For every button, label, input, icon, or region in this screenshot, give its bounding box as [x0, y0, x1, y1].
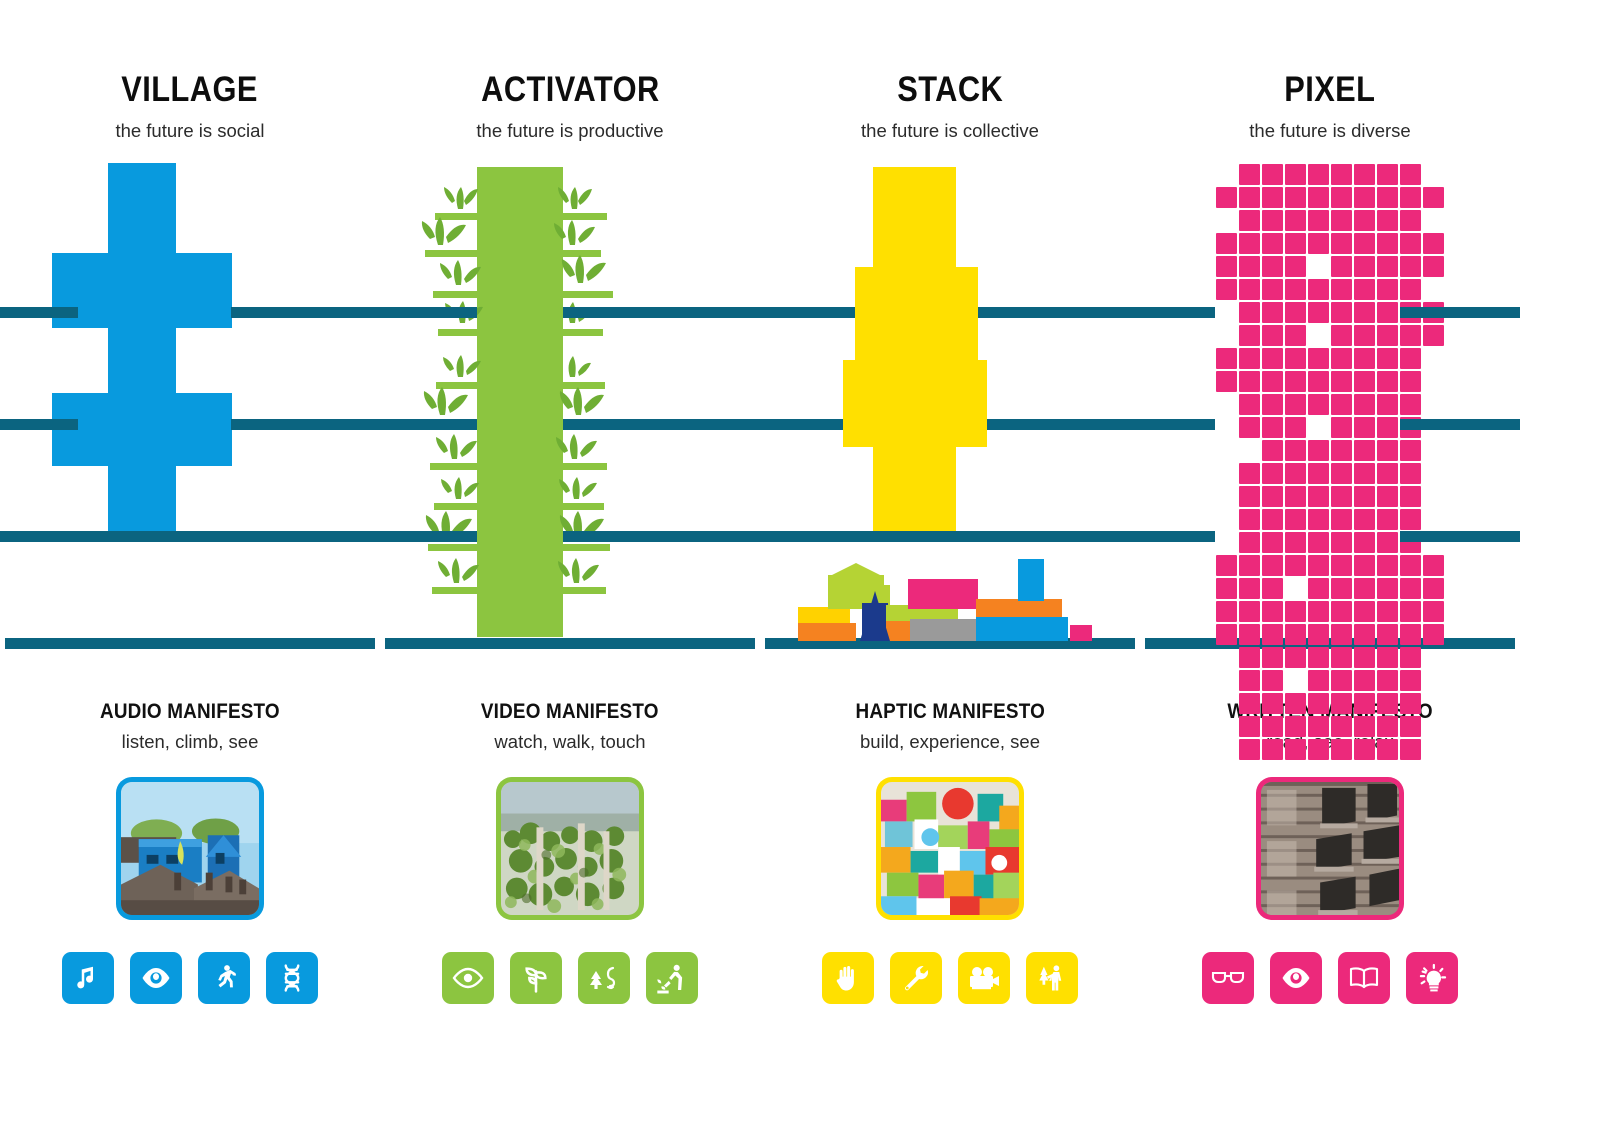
pixel-cell [1285, 647, 1306, 668]
icon-tile-music-note[interactable] [62, 952, 114, 1004]
pixel-cell [1354, 624, 1375, 645]
pixel-cell [1331, 417, 1352, 438]
pixel-cell [1354, 371, 1375, 392]
tower-village [0, 163, 380, 653]
thumbnail-image-village [121, 782, 259, 915]
pixel-cell [1239, 486, 1260, 507]
pixel-cell [1285, 716, 1306, 737]
icon-tile-dna[interactable] [266, 952, 318, 1004]
pixel-cell [1262, 210, 1283, 231]
floor-line-2-left [760, 419, 843, 430]
column-title-village: VILLAGE [122, 72, 259, 107]
icon-tile-wrench[interactable] [890, 952, 942, 1004]
pixel-cell [1216, 601, 1237, 622]
pixel-cell [1308, 486, 1329, 507]
pixel-cell [1308, 394, 1329, 415]
pixel-cell [1354, 693, 1375, 714]
pixel-gap [1216, 670, 1237, 691]
pixel-cell [1285, 348, 1306, 369]
floor-line-2-right [1400, 419, 1520, 430]
pixel-cell [1331, 164, 1352, 185]
pixel-cell [1377, 233, 1398, 254]
pixel-cell [1262, 302, 1283, 323]
pixel-cell [1331, 394, 1352, 415]
column-village: VILLAGE the future is social AUDIO MANIF… [0, 72, 380, 1131]
pixel-cell [1285, 256, 1306, 277]
pixel-cell [1239, 302, 1260, 323]
floor-line-3-right [563, 531, 760, 542]
manifesto-title-activator: VIDEO MANIFESTO [481, 701, 659, 722]
toy-block [976, 599, 1062, 619]
thumbnail-frame-village[interactable] [116, 777, 264, 920]
pixel-cell [1377, 348, 1398, 369]
pixel-cell [1423, 256, 1444, 277]
pixel-cell [1354, 348, 1375, 369]
pixel-cell [1423, 601, 1444, 622]
floor-line-2-right [563, 419, 760, 430]
pixel-cell [1308, 509, 1329, 530]
pixel-cell [1331, 463, 1352, 484]
pixel-gap [1308, 417, 1329, 438]
balcony-plants [420, 171, 620, 631]
pixel-cell [1400, 601, 1421, 622]
pixel-cell [1262, 486, 1283, 507]
pixel-cell [1239, 601, 1260, 622]
pixel-cell [1285, 486, 1306, 507]
pixel-cell [1377, 578, 1398, 599]
column-tagline-stack: the future is collective [861, 122, 1039, 141]
icon-row-village [62, 952, 318, 1004]
tower-pixel [1140, 163, 1520, 653]
pixel-cell [1308, 164, 1329, 185]
manifesto-village: AUDIO MANIFESTO listen, climb, see [90, 701, 290, 752]
toy-block [908, 579, 978, 609]
pixel-cell [1377, 693, 1398, 714]
pixel-cell [1377, 532, 1398, 553]
column-title-stack: STACK [897, 72, 1003, 107]
pixel-cell [1377, 555, 1398, 576]
pixel-cell [1377, 739, 1398, 760]
pixel-cell [1308, 739, 1329, 760]
pixel-cell [1239, 739, 1260, 760]
pixel-gap [1285, 670, 1306, 691]
pixel-gap [1423, 440, 1444, 461]
pixel-cell [1239, 371, 1260, 392]
pixel-cell [1400, 279, 1421, 300]
pixel-cell [1262, 693, 1283, 714]
pixel-cell [1354, 394, 1375, 415]
pixel-cell [1331, 486, 1352, 507]
pixel-cell [1331, 509, 1352, 530]
pixel-cell [1377, 164, 1398, 185]
pixel-cell [1354, 509, 1375, 530]
pixel-cell [1400, 164, 1421, 185]
stack-box-4 [873, 447, 956, 532]
icon-tile-sprout[interactable] [510, 952, 562, 1004]
glasses-icon [1211, 965, 1245, 991]
village-block-wide-1 [52, 253, 232, 328]
pixel-cell [1308, 302, 1329, 323]
pixel-cell [1354, 532, 1375, 553]
pixel-cell [1400, 739, 1421, 760]
pixel-gap [1423, 279, 1444, 300]
manifesto-sub-activator: watch, walk, touch [471, 733, 668, 752]
icon-tile-eye[interactable] [130, 952, 182, 1004]
column-tagline-village: the future is social [115, 122, 264, 141]
pixel-cell [1239, 348, 1260, 369]
pixel-cell [1354, 578, 1375, 599]
thumbnail-frame-stack[interactable] [876, 777, 1024, 920]
floor-line-2-left [0, 419, 78, 430]
pixel-cell [1354, 486, 1375, 507]
pixel-cell [1354, 716, 1375, 737]
pixel-cell [1308, 210, 1329, 231]
pixel-cell [1262, 601, 1283, 622]
eye-outline-icon [451, 961, 485, 995]
pixel-gap [1239, 440, 1260, 461]
pixel-cell [1239, 555, 1260, 576]
pixel-gap [1423, 716, 1444, 737]
icon-tile-running-person[interactable] [198, 952, 250, 1004]
pixel-cell [1354, 601, 1375, 622]
pixel-cell [1216, 348, 1237, 369]
pixel-cell [1262, 187, 1283, 208]
thumbnail-image-pixel [1261, 782, 1399, 915]
pixel-cell [1331, 555, 1352, 576]
infographic-board: VILLAGE the future is social AUDIO MANIF… [0, 0, 1600, 1131]
pixel-gap [1423, 647, 1444, 668]
open-book-icon [1348, 964, 1380, 992]
pixel-gap [1423, 739, 1444, 760]
pixel-cell [1400, 325, 1421, 346]
pixel-cell [1285, 279, 1306, 300]
pixel-cell [1262, 325, 1283, 346]
floor-line-1-right [231, 307, 380, 318]
lightbulb-icon [1416, 962, 1448, 994]
pixel-cell [1262, 394, 1283, 415]
pixel-cell [1354, 279, 1375, 300]
village-block-top [108, 163, 176, 253]
pixel-cell [1308, 693, 1329, 714]
manifesto-activator: VIDEO MANIFESTO watch, walk, touch [471, 701, 668, 752]
ground-line [5, 638, 375, 649]
pixel-cell [1400, 624, 1421, 645]
toy-block [976, 617, 1068, 641]
pixel-cell [1423, 233, 1444, 254]
pixel-cell [1400, 371, 1421, 392]
pixel-gap [1216, 509, 1237, 530]
film-camera-icon [968, 964, 1000, 992]
thumbnail-image-stack [881, 782, 1019, 915]
pixel-gap [1216, 739, 1237, 760]
icon-row-pixel [1202, 952, 1458, 1004]
village-block-base [108, 466, 176, 536]
floor-line-3 [760, 531, 1140, 542]
pixel-cell [1239, 164, 1260, 185]
pixel-cell [1285, 693, 1306, 714]
pixel-cell [1354, 670, 1375, 691]
pixel-cell [1354, 210, 1375, 231]
pixel-cell [1308, 440, 1329, 461]
pixel-cell [1262, 417, 1283, 438]
sprout-icon [520, 962, 552, 994]
column-pixel: PIXEL the future is diverse WRITTEN MANI… [1140, 72, 1520, 1131]
pixel-cell [1377, 187, 1398, 208]
icon-tile-lightbulb[interactable] [1406, 952, 1458, 1004]
pixel-cell [1239, 693, 1260, 714]
pixel-cell [1423, 624, 1444, 645]
stack-box-3 [843, 360, 987, 447]
pixel-cell [1262, 164, 1283, 185]
pixel-cell [1377, 601, 1398, 622]
manifesto-title-village: AUDIO MANIFESTO [100, 701, 280, 722]
pixel-cell [1216, 256, 1237, 277]
pixel-cell [1354, 164, 1375, 185]
floor-line-2-left [1140, 419, 1215, 430]
pixel-cell [1377, 371, 1398, 392]
icon-tile-eye-outline[interactable] [442, 952, 494, 1004]
floor-line-1-right [1400, 307, 1520, 318]
pixel-cell [1308, 647, 1329, 668]
pixel-cell [1354, 187, 1375, 208]
pixel-cell [1262, 440, 1283, 461]
pixel-cell [1331, 532, 1352, 553]
pixel-gap [1216, 532, 1237, 553]
pixel-cell [1239, 578, 1260, 599]
pixel-cell [1377, 486, 1398, 507]
pixel-cell [1262, 716, 1283, 737]
person-planting-icon [656, 962, 688, 994]
pixel-cell [1400, 647, 1421, 668]
toy-block-roof [828, 563, 884, 577]
manifesto-sub-stack: build, experience, see [845, 733, 1055, 752]
pixel-cell [1400, 256, 1421, 277]
pixel-cell [1262, 624, 1283, 645]
pixel-cell [1308, 670, 1329, 691]
pixel-cell [1285, 440, 1306, 461]
pixel-gap [1423, 509, 1444, 530]
pixel-cell [1262, 279, 1283, 300]
pixel-cell [1285, 532, 1306, 553]
pixel-cell [1331, 187, 1352, 208]
pixel-cell [1331, 670, 1352, 691]
pixel-cell [1331, 210, 1352, 231]
pixel-cell [1331, 279, 1352, 300]
floor-line-3-left [1140, 531, 1215, 542]
pixel-gap [1216, 463, 1237, 484]
floor-line-1-right [563, 307, 760, 318]
pixel-cell [1423, 555, 1444, 576]
village-block-wide-2 [52, 393, 232, 466]
pixel-cell [1285, 187, 1306, 208]
pixel-cell [1354, 555, 1375, 576]
icon-tile-hand[interactable] [822, 952, 874, 1004]
icon-row-activator [442, 952, 698, 1004]
pixel-cell [1377, 463, 1398, 484]
pixel-cell [1262, 233, 1283, 254]
pixel-cell [1239, 647, 1260, 668]
pixel-gap [1423, 348, 1444, 369]
pixel-cell [1239, 256, 1260, 277]
pixel-gap [1216, 486, 1237, 507]
pixel-cell [1285, 210, 1306, 231]
pixel-cell [1239, 210, 1260, 231]
pixel-cell [1308, 555, 1329, 576]
pixel-cell [1262, 532, 1283, 553]
pixel-cell [1308, 716, 1329, 737]
pixel-cell [1354, 325, 1375, 346]
thumbnail-frame-activator[interactable] [496, 777, 644, 920]
column-title-pixel: PIXEL [1284, 72, 1375, 107]
pixel-gap [1423, 693, 1444, 714]
pixel-cell [1285, 463, 1306, 484]
pixel-cell [1308, 233, 1329, 254]
icon-tile-nose-tree[interactable] [578, 952, 630, 1004]
pixel-cell [1239, 509, 1260, 530]
floor-line-1-left [1140, 307, 1215, 318]
pixel-cell [1400, 693, 1421, 714]
pixel-cell [1331, 578, 1352, 599]
pixel-cell [1331, 716, 1352, 737]
pixel-cell [1331, 601, 1352, 622]
pixel-cell [1285, 739, 1306, 760]
pixel-cell [1262, 509, 1283, 530]
floor-line-1-left [0, 307, 78, 318]
pixel-cell [1331, 440, 1352, 461]
pixel-gap [1216, 164, 1237, 185]
icon-row-stack [822, 952, 1078, 1004]
column-tagline-activator: the future is productive [476, 122, 663, 141]
pixel-cell [1377, 670, 1398, 691]
floor-line-2-right [231, 419, 380, 430]
pixel-cell [1331, 233, 1352, 254]
pixel-cell [1400, 578, 1421, 599]
pixel-cell [1354, 739, 1375, 760]
pixel-cell [1377, 325, 1398, 346]
eye-icon [1280, 962, 1312, 994]
pixel-cell [1331, 739, 1352, 760]
pixel-cell [1216, 578, 1237, 599]
icon-tile-film-camera[interactable] [958, 952, 1010, 1004]
icon-tile-open-book[interactable] [1338, 952, 1390, 1004]
pixel-cell [1308, 463, 1329, 484]
pixel-cell [1308, 279, 1329, 300]
pixel-gap [1285, 578, 1306, 599]
eye-icon [140, 962, 172, 994]
manifesto-stack: HAPTIC MANIFESTO build, experience, see [845, 701, 1055, 752]
pixel-cell [1262, 578, 1283, 599]
column-title-activator: ACTIVATOR [481, 72, 659, 107]
thumbnail-frame-pixel[interactable] [1256, 777, 1404, 920]
pixel-cell [1239, 417, 1260, 438]
pixel-cell [1400, 555, 1421, 576]
pixel-cell [1400, 509, 1421, 530]
pixel-cell [1377, 394, 1398, 415]
pixel-cell [1262, 670, 1283, 691]
icon-tile-person-presenting[interactable] [1026, 952, 1078, 1004]
pixel-cell [1216, 233, 1237, 254]
pixel-cell [1331, 302, 1352, 323]
pixel-cell [1285, 509, 1306, 530]
pixel-cell [1400, 233, 1421, 254]
pixel-cell [1423, 187, 1444, 208]
pixel-cell [1331, 325, 1352, 346]
pixel-cell [1377, 624, 1398, 645]
wrench-icon [901, 963, 931, 993]
pixel-cell [1239, 233, 1260, 254]
floor-line-3-left [380, 531, 477, 542]
pixel-cell [1239, 532, 1260, 553]
nose-smell-tree-icon [587, 963, 621, 993]
running-person-icon [209, 963, 239, 993]
pixel-cell [1285, 325, 1306, 346]
icon-tile-eye[interactable] [1270, 952, 1322, 1004]
pixel-cell [1285, 371, 1306, 392]
pixel-cell [1400, 210, 1421, 231]
pixel-gap [1423, 486, 1444, 507]
pixel-grid [1215, 163, 1445, 761]
pixel-gap [1216, 210, 1237, 231]
pixel-gap [1423, 394, 1444, 415]
pixel-cell [1262, 555, 1283, 576]
pixel-cell [1216, 371, 1237, 392]
pixel-cell [1400, 670, 1421, 691]
pixel-cell [1377, 302, 1398, 323]
pixel-gap [1423, 164, 1444, 185]
pixel-cell [1308, 578, 1329, 599]
pixel-cell [1262, 371, 1283, 392]
pixel-cell [1239, 670, 1260, 691]
pixel-cell [1354, 647, 1375, 668]
pixel-gap [1308, 256, 1329, 277]
pixel-cell [1285, 601, 1306, 622]
pixel-cell [1308, 601, 1329, 622]
icon-tile-glasses[interactable] [1202, 952, 1254, 1004]
pixel-cell [1239, 394, 1260, 415]
pixel-cell [1400, 394, 1421, 415]
toy-block [798, 623, 856, 641]
column-activator: ACTIVATOR the future is productive [380, 72, 760, 1131]
tower-activator [380, 163, 760, 653]
pixel-cell [1308, 187, 1329, 208]
floor-line-2-left [380, 419, 477, 430]
pixel-gap [1423, 670, 1444, 691]
pixel-cell [1285, 555, 1306, 576]
pixel-cell [1308, 348, 1329, 369]
stack-box-2 [855, 267, 978, 360]
pixel-cell [1377, 256, 1398, 277]
pixel-cell [1308, 624, 1329, 645]
pixel-cell [1262, 256, 1283, 277]
pixel-cell [1239, 716, 1260, 737]
pixel-cell [1400, 463, 1421, 484]
pixel-gap [1423, 371, 1444, 392]
pixel-cell [1377, 417, 1398, 438]
toy-block [1018, 577, 1044, 601]
icon-tile-person-planting[interactable] [646, 952, 698, 1004]
pixel-cell [1239, 624, 1260, 645]
toy-blocks-group [780, 557, 1120, 642]
pixel-cell [1285, 302, 1306, 323]
music-note-icon [73, 963, 103, 993]
pixel-cell [1354, 417, 1375, 438]
pixel-cell [1400, 440, 1421, 461]
pixel-cell [1354, 463, 1375, 484]
pixel-cell [1423, 325, 1444, 346]
pixel-cell [1423, 578, 1444, 599]
pixel-cell [1308, 532, 1329, 553]
pixel-cell [1216, 279, 1237, 300]
